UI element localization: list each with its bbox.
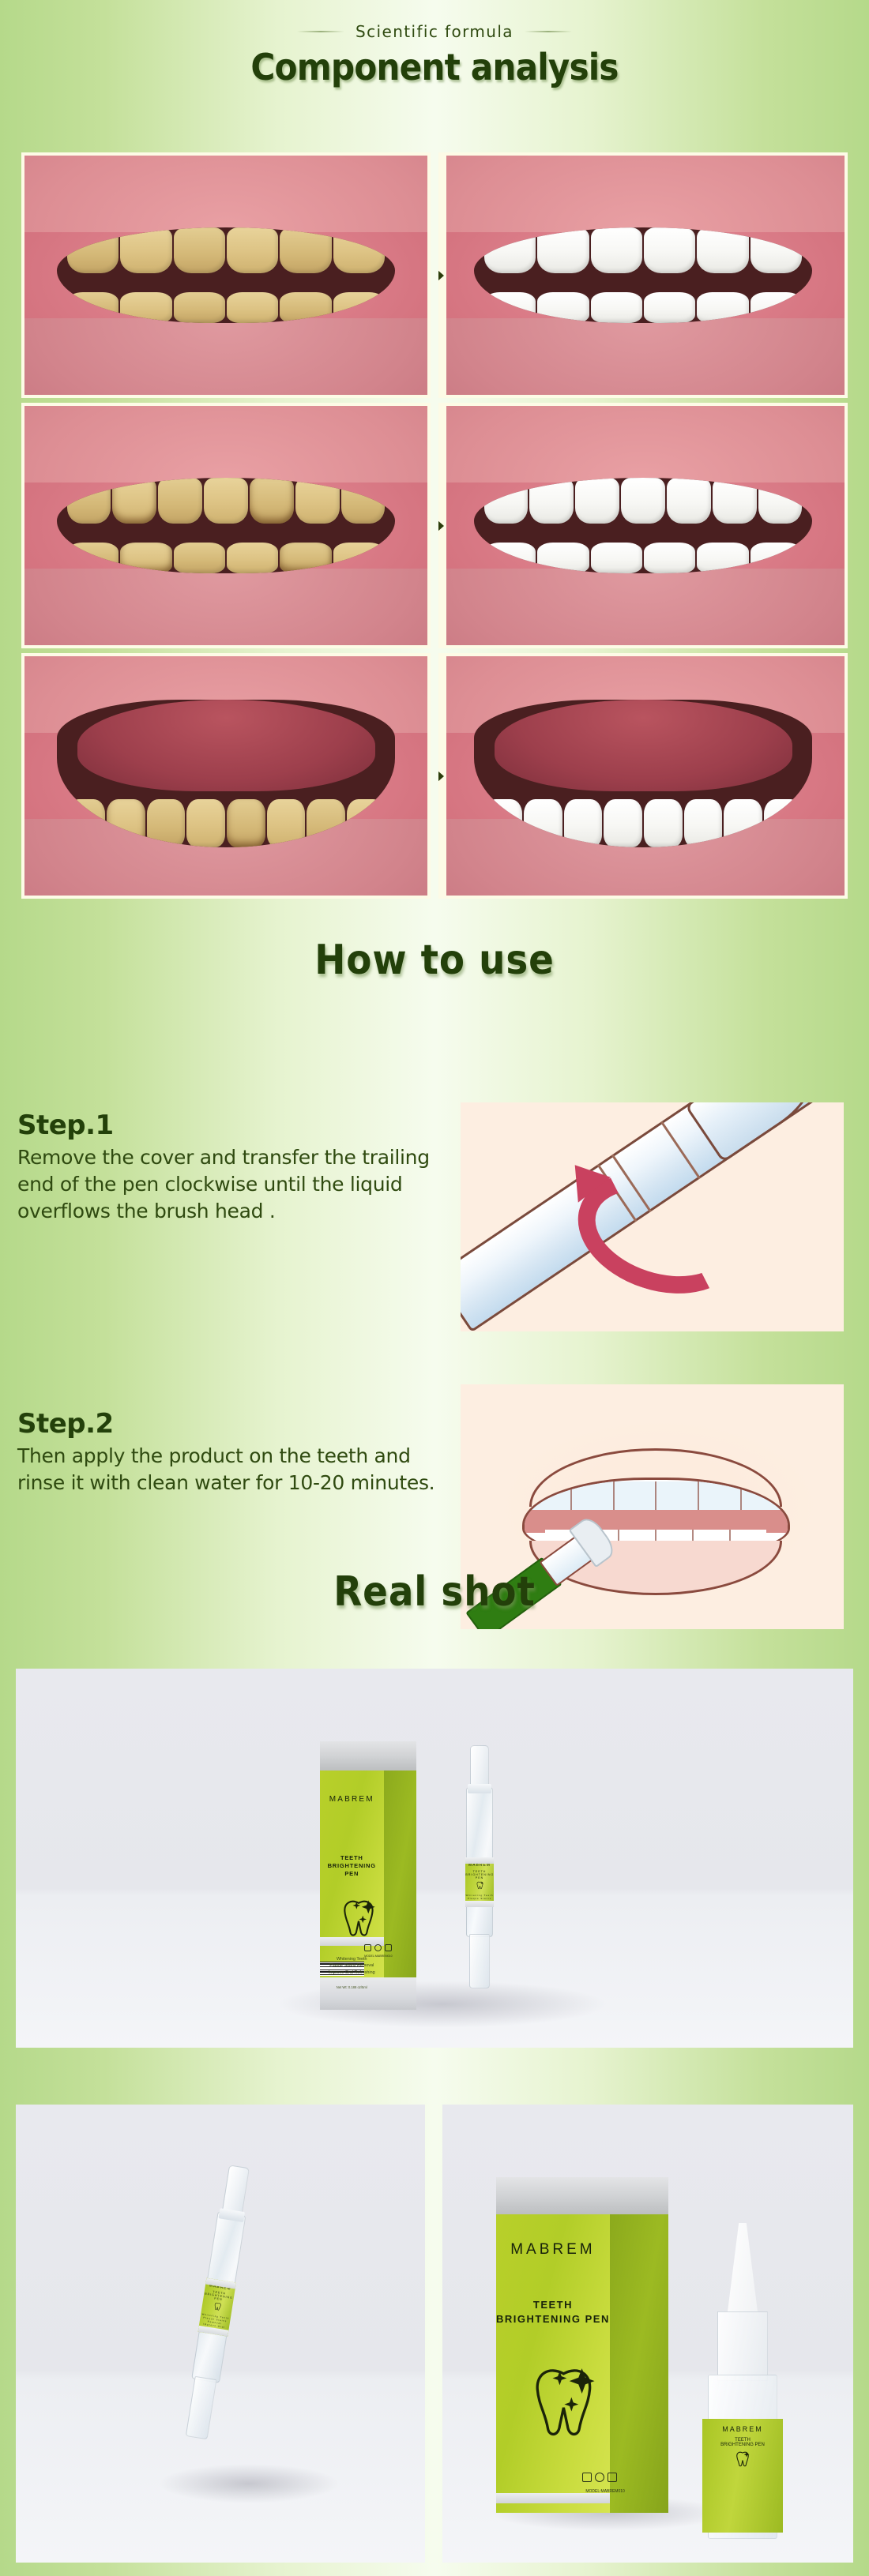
carton-brand: MABREM [320,1795,384,1804]
step-1-illustration [461,1102,844,1331]
arrow-right-icon [438,265,444,286]
tooth-sparkle-icon [341,1897,376,1940]
pen-label-main: MABREM TEETH BRIGHTENING PEN Whitening T… [465,1857,493,1907]
eco-icons [364,1944,392,1951]
product-dropper-bottle: MABREM TEETH BRIGHTENING PEN [703,2223,782,2539]
arrow-right-icon [438,516,444,536]
teeth-photo-before-2 [24,406,427,645]
howto-section-title: How to use [43,937,826,984]
realshot-photo-pen: MABREM TEETH BRIGHTENING PEN Whitening T… [16,2105,425,2563]
before-photo-3 [21,653,431,899]
after-photo-1 [438,152,848,398]
teeth-photo-after-2 [442,406,845,645]
carton-product-name: TEETH BRIGHTENING PEN [320,1854,384,1878]
step-1-label: Step.1 [17,1110,436,1141]
tooth-sparkle-icon [213,2302,222,2311]
realshot-photo-main: MABREM TEETH BRIGHTENING PEN MODEL:MABRE… [16,1669,853,2048]
teeth-photo-before-3 [24,656,427,896]
step-1-text: Step.1 Remove the cover and transfer the… [17,1110,436,1225]
teeth-photo-after-1 [442,156,845,395]
step-2-text: Step.2 Then apply the product on the tee… [17,1408,436,1496]
carton-net-weight: Net Wt: 0.188 oz/5ml [320,1985,384,1989]
tooth-sparkle-icon [531,2359,596,2446]
arrow-right-icon [438,766,444,787]
step-2-label: Step.2 [17,1408,436,1440]
eyebrow-rule-left [297,31,344,32]
realshot-section-title: Real shot [43,1568,826,1616]
step-1-body: Remove the cover and transfer the traili… [17,1144,436,1225]
after-photo-3 [438,653,848,899]
arrow-strip-3 [438,653,446,899]
arrow-strip-2 [438,403,446,648]
teeth-photo-after-3 [442,656,845,896]
eco-icons [582,2473,617,2482]
realshot-photo-box-dropper: MABREM TEETH BRIGHTENING PEN MODEL:MABRE… [442,2105,853,2563]
before-photo-2 [21,403,431,648]
eyebrow-rule-right [525,31,572,32]
tooth-sparkle-icon [476,1881,483,1890]
product-pen-main: MABREM TEETH BRIGHTENING PEN Whitening T… [466,1787,493,1937]
arrow-strip-1 [438,152,446,398]
before-photo-1 [21,152,431,398]
dropper-label: MABREM TEETH BRIGHTENING PEN [702,2419,783,2533]
tooth-sparkle-icon [735,2450,750,2468]
carton-brand: MABREM [496,2241,610,2259]
product-carton-main: MABREM TEETH BRIGHTENING PEN MODEL:MABRE… [320,1741,416,2010]
after-photo-2 [438,403,848,648]
eyebrow-label: Scientific formula [355,22,513,41]
eyebrow-heading: Scientific formula [0,0,869,41]
pen-twist-icon [461,1102,844,1331]
carton-model-code: MODEL:MABREM010 [585,2489,624,2494]
product-carton-closeup: MABREM TEETH BRIGHTENING PEN MODEL:MABRE… [496,2177,668,2513]
teeth-photo-before-1 [24,156,427,395]
step-2-body: Then apply the product on the teeth and … [17,1443,436,1496]
carton-product-name: TEETH BRIGHTENING PEN [496,2298,610,2326]
before-after-grid [21,152,848,899]
carton-claims: Whitening Teeth Plaque Stains Removal Im… [320,1956,384,1976]
page-title: Component analysis [35,46,834,88]
